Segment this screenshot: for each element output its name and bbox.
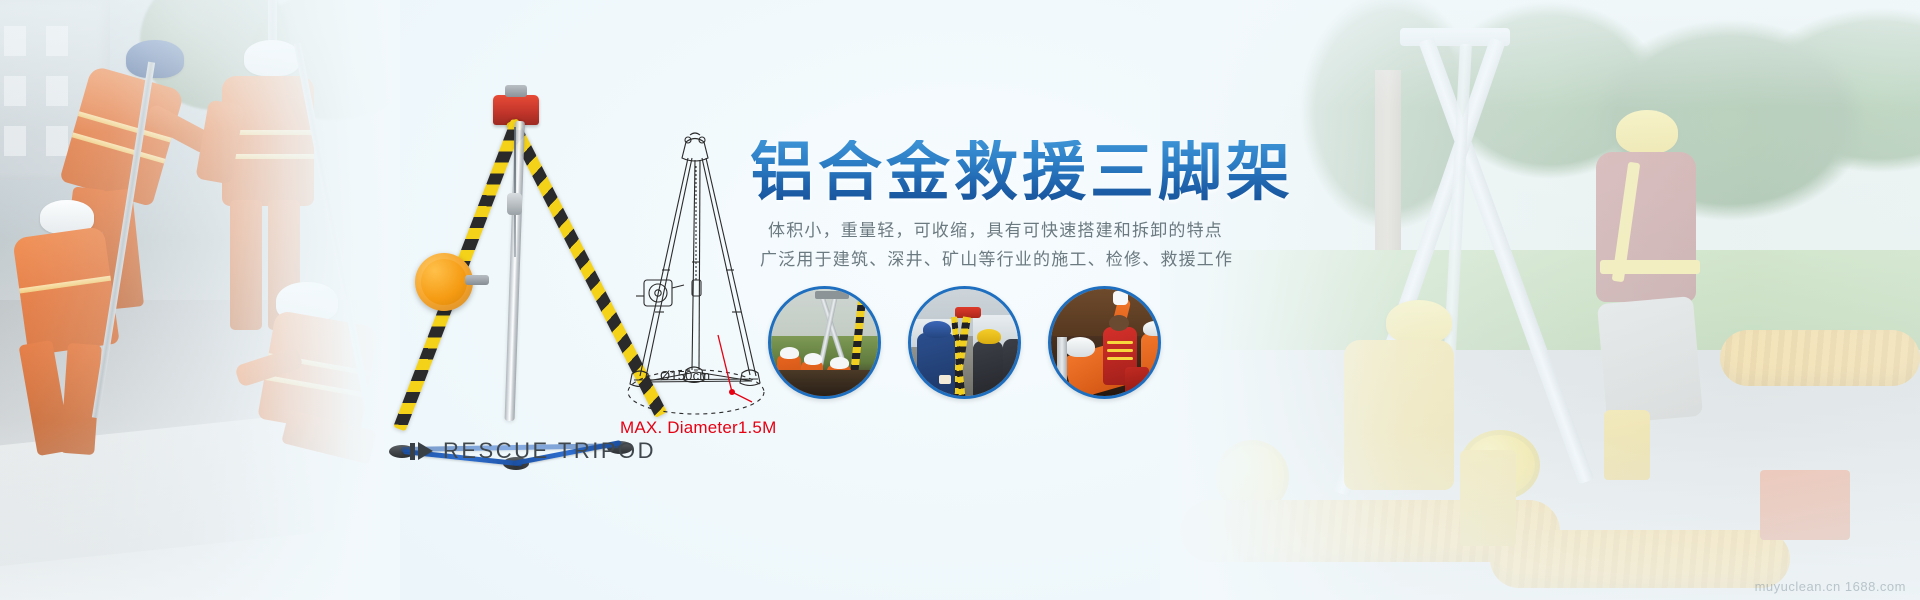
tripod-winch xyxy=(415,253,473,311)
gallery-circle-2[interactable] xyxy=(908,286,1021,399)
play-marker-icon xyxy=(410,442,433,460)
gallery-circle-3[interactable] xyxy=(1048,286,1161,399)
right-scene-photo: muyuclean.cn 1688.com xyxy=(1160,0,1920,600)
diameter-label: Ø150cm xyxy=(660,368,710,383)
product-caption-text: RESCUE TRIPOD xyxy=(443,438,656,464)
left-fade-overlay xyxy=(0,0,400,600)
product-banner: muyuclean.cn 1688.com RESCUE TRIPOD xyxy=(0,0,1920,600)
watermark-text: muyuclean.cn 1688.com xyxy=(1755,579,1906,594)
left-scene-photo xyxy=(0,0,400,600)
product-caption: RESCUE TRIPOD xyxy=(410,438,656,464)
right-fade-overlay xyxy=(1160,0,1920,600)
gallery-circles xyxy=(768,286,1161,399)
page-title: 铝合金救援三脚架 xyxy=(750,140,1294,204)
tripod-pulley xyxy=(507,193,522,215)
product-tripod-photo xyxy=(395,75,635,495)
tripod-cable xyxy=(514,127,516,257)
max-diameter-annotation: MAX. Diameter1.5M xyxy=(620,418,776,438)
subtitle-line-1: 体积小，重量轻，可收缩，具有可快速搭建和拆卸的特点 xyxy=(768,216,1223,241)
gallery-circle-1[interactable] xyxy=(768,286,881,399)
subtitle-line-2: 广泛用于建筑、深井、矿山等行业的施工、检修、救援工作 xyxy=(760,245,1233,270)
